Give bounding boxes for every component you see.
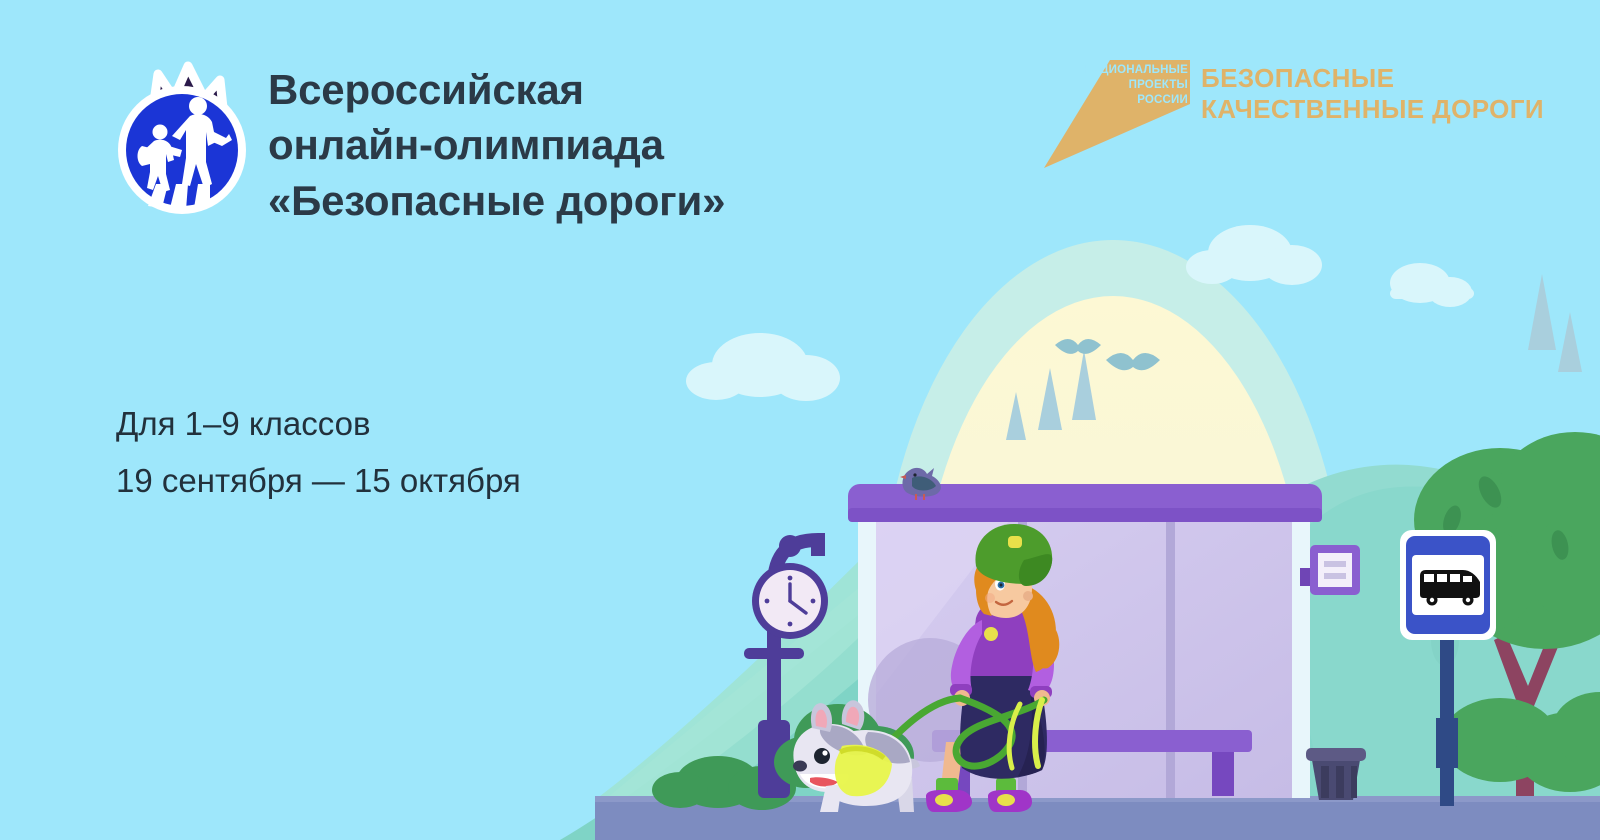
national-projects-logo: НАЦИОНАЛЬНЫЕ ПРОЕКТЫ РОССИИ БЕЗОПАСНЫЕ К… bbox=[1038, 56, 1598, 171]
pigeon-eye bbox=[913, 473, 916, 476]
timetable-panel bbox=[1318, 553, 1352, 587]
olympiad-logo bbox=[112, 58, 252, 223]
girl-shoe-front-detail bbox=[935, 794, 953, 806]
clock-post-collar bbox=[744, 648, 804, 659]
np-wedge-shape bbox=[1044, 60, 1190, 168]
bin-lid bbox=[1306, 748, 1366, 761]
girl-shoe-back-detail bbox=[997, 794, 1015, 806]
girl-ear bbox=[1023, 591, 1033, 601]
girl-button bbox=[984, 627, 998, 641]
dog-eye-glint bbox=[822, 750, 827, 755]
clock-finial bbox=[779, 535, 801, 557]
girl-hat-badge bbox=[1008, 536, 1022, 548]
dog-eye bbox=[814, 748, 830, 764]
shelter-mullion-2 bbox=[1166, 520, 1175, 798]
title-line-1: Всероссийская bbox=[268, 62, 888, 117]
timetable-line-2 bbox=[1324, 573, 1346, 579]
np-title-line-1: БЕЗОПАСНЫЕ bbox=[1201, 63, 1544, 94]
olympiad-promo-banner: Всероссийская онлайн-олимпиада «Безопасн… bbox=[0, 0, 1600, 840]
np-wedge-line-1: НАЦИОНАЛЬНЫЕ bbox=[1083, 64, 1188, 76]
event-details: Для 1–9 классов 19 сентября — 15 октября bbox=[116, 396, 521, 510]
np-wedge-line-2: ПРОЕКТЫ bbox=[1129, 79, 1188, 91]
timetable-line-1 bbox=[1324, 561, 1346, 567]
girl-cheek bbox=[985, 593, 995, 603]
event-dates: 19 сентября — 15 октября bbox=[116, 453, 521, 510]
dog-nose bbox=[793, 761, 807, 772]
title-line-2: онлайн-олимпиада bbox=[268, 117, 888, 172]
bus-shelter bbox=[848, 484, 1322, 798]
child-backpack bbox=[138, 146, 151, 166]
np-wedge-line-3: РОССИИ bbox=[1137, 94, 1188, 106]
sign-pole-collar bbox=[1436, 718, 1458, 768]
girl-pupil-dot bbox=[1000, 584, 1003, 587]
title-line-3: «Безопасные дороги» bbox=[268, 173, 888, 228]
shelter-roof-shade bbox=[848, 508, 1322, 522]
shelter-bench-leg-right bbox=[1212, 752, 1234, 796]
bin-slots bbox=[1321, 766, 1357, 798]
np-title-line-2: КАЧЕСТВЕННЫЕ ДОРОГИ bbox=[1201, 94, 1544, 125]
page-title: Всероссийская онлайн-олимпиада «Безопасн… bbox=[268, 62, 888, 228]
grades-range: Для 1–9 классов bbox=[116, 396, 521, 453]
np-program-title: БЕЗОПАСНЫЕ КАЧЕСТВЕННЫЕ ДОРОГИ bbox=[1201, 63, 1544, 124]
